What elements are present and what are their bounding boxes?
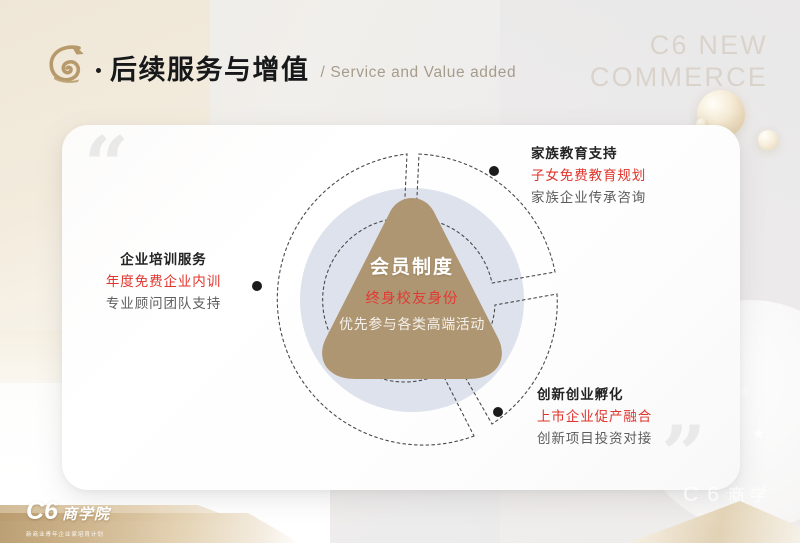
callout-heading: 企业培训服务 [98, 250, 229, 272]
page-title: 后续服务与增值 [110, 57, 310, 84]
footer-logo-block: C6 商学院 新商业青年企业家培育计划 [0, 488, 320, 543]
callout-heading: 家族教育支持 [531, 144, 646, 166]
page-subtitle: / Service and Value added [321, 64, 517, 84]
footer-logo-c6: C6 [26, 497, 58, 526]
footer-logo: C6 商学院 [26, 497, 110, 526]
quote-open-icon: “ [84, 127, 129, 205]
membership-diagram: 会员制度 终身校友身份 优先参与各类高端活动 [252, 142, 572, 462]
callout-highlight: 子女免费教育规划 [531, 166, 646, 188]
brand-watermark-line2: COMMERCE [590, 62, 768, 94]
callout-highlight: 年度免费企业内训 [98, 272, 229, 294]
decorative-pearl-small [758, 130, 778, 150]
connector-node-enterprise-training [252, 281, 262, 291]
connector-node-innovation-incubation [493, 407, 503, 417]
slide-header: 后续服务与增值 / Service and Value added [48, 44, 516, 84]
callout-detail: 专业顾问团队支持 [98, 294, 229, 316]
callout-enterprise-training: 企业培训服务 年度免费企业内训 专业顾问团队支持 [98, 250, 229, 316]
footer-watermark-c6: C6 [683, 483, 728, 507]
footer-logo-cn: 商学院 [62, 503, 110, 524]
dot-separator-icon [96, 68, 101, 73]
slide-canvas: ★ ★ ★ C6 C6 NEW COMMERCE 后续服务与增值 / Servi… [0, 0, 800, 543]
brand-watermark-line1: C6 NEW [590, 30, 768, 62]
callout-family-education: 家族教育支持 子女免费教育规划 家族企业传承咨询 [531, 144, 646, 210]
star-icon: ★ [751, 425, 766, 442]
callout-innovation-incubation: 创新创业孵化 上市企业促产融合 创新项目投资对接 [537, 385, 652, 451]
c6-swoosh-logo-icon [48, 44, 90, 84]
callout-detail: 家族企业传承咨询 [531, 188, 646, 210]
callout-detail: 创新项目投资对接 [537, 429, 652, 451]
brand-watermark: C6 NEW COMMERCE [590, 30, 768, 94]
footer-brand-watermark: C6 商学 [683, 481, 772, 507]
connector-node-family-education [489, 166, 499, 176]
footer-tagline: 新商业青年企业家培育计划 [26, 530, 104, 538]
callout-highlight: 上市企业促产融合 [537, 407, 652, 429]
callout-heading: 创新创业孵化 [537, 385, 652, 407]
footer-watermark-cn: 商学 [728, 481, 772, 506]
